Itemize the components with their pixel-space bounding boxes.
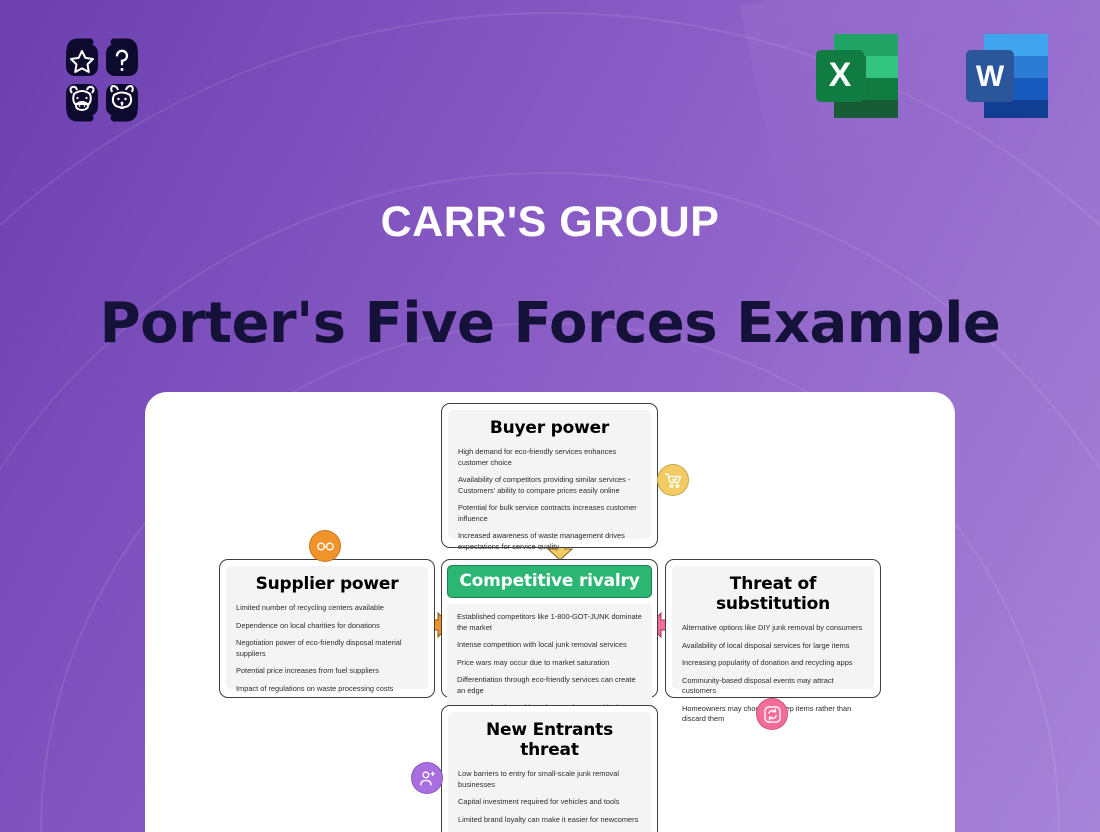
force-point: Increased awareness of waste management … bbox=[458, 531, 641, 552]
force-box-buyer-power[interactable]: Buyer power High demand for eco-friendly… bbox=[441, 403, 658, 548]
title-block: CARR'S GROUP Porter's Five Forces Exampl… bbox=[0, 198, 1100, 356]
force-box-threat-of-substitution[interactable]: Threat of substitution Alternative optio… bbox=[665, 559, 881, 698]
force-point: Potential for bulk service contracts inc… bbox=[458, 503, 641, 524]
excel-icon[interactable]: X bbox=[808, 26, 908, 131]
force-title: Threat of substitution bbox=[682, 574, 864, 614]
svg-text:W: W bbox=[976, 60, 1005, 93]
handshake-icon bbox=[309, 530, 341, 562]
word-icon[interactable]: W bbox=[958, 26, 1058, 131]
force-point: Price wars may occur due to market satur… bbox=[457, 658, 642, 669]
force-point: Limited number of recycling centers avai… bbox=[236, 603, 418, 614]
force-point: Intense competition with local junk remo… bbox=[457, 640, 642, 651]
force-box-competitive-rivalry[interactable]: Competitive rivalry Established competit… bbox=[441, 559, 658, 698]
brand-logo-qr-animals[interactable] bbox=[48, 30, 156, 130]
force-point: Availability of competitors providing si… bbox=[458, 475, 641, 496]
force-point: Increasing popularity of donation and re… bbox=[682, 658, 864, 669]
force-point: Alternative options like DIY junk remova… bbox=[682, 623, 864, 634]
force-points: Low barriers to entry for small-scale ju… bbox=[458, 769, 641, 832]
slide-canvas: X W CARR'S GROUP Porter's Five Forces Ex… bbox=[0, 0, 1100, 832]
svg-text:X: X bbox=[829, 56, 852, 94]
force-point: High demand for eco-friendly services en… bbox=[458, 447, 641, 468]
force-box-supplier-power[interactable]: Supplier power Limited number of recycli… bbox=[219, 559, 435, 698]
add-user-icon bbox=[411, 762, 443, 794]
force-title: Supplier power bbox=[236, 574, 418, 594]
force-title: Buyer power bbox=[458, 418, 641, 438]
force-point: Impact of regulations on waste processin… bbox=[236, 684, 418, 695]
force-title: New Entrants threat bbox=[458, 720, 641, 760]
force-point: Dependence on local charities for donati… bbox=[236, 621, 418, 632]
force-point: Low barriers to entry for small-scale ju… bbox=[458, 769, 641, 790]
force-points: High demand for eco-friendly services en… bbox=[458, 447, 641, 552]
office-app-icons: X W bbox=[808, 26, 1058, 131]
force-point: Community-based disposal events may attr… bbox=[682, 676, 864, 697]
force-point: Potential price increases from fuel supp… bbox=[236, 666, 418, 677]
force-point: Differentiation through eco-friendly ser… bbox=[457, 675, 642, 696]
force-point: Negotiation power of eco-friendly dispos… bbox=[236, 638, 418, 659]
force-point: Availability of local disposal services … bbox=[682, 641, 864, 652]
force-point: Limited brand loyalty can make it easier… bbox=[458, 815, 641, 826]
force-points: Limited number of recycling centers avai… bbox=[236, 603, 418, 694]
refresh-sync-icon bbox=[756, 698, 788, 730]
page-title: Porter's Five Forces Example bbox=[0, 291, 1100, 356]
force-title: Competitive rivalry bbox=[448, 571, 651, 591]
shopping-cart-icon bbox=[657, 464, 689, 496]
force-point: Established competitors like 1-800-GOT-J… bbox=[457, 612, 642, 633]
force-point: Capital investment required for vehicles… bbox=[458, 797, 641, 808]
force-header-banner: Competitive rivalry bbox=[447, 565, 652, 598]
force-box-new-entrants-threat[interactable]: New Entrants threat Low barriers to entr… bbox=[441, 705, 658, 832]
company-name: CARR'S GROUP bbox=[0, 198, 1100, 247]
